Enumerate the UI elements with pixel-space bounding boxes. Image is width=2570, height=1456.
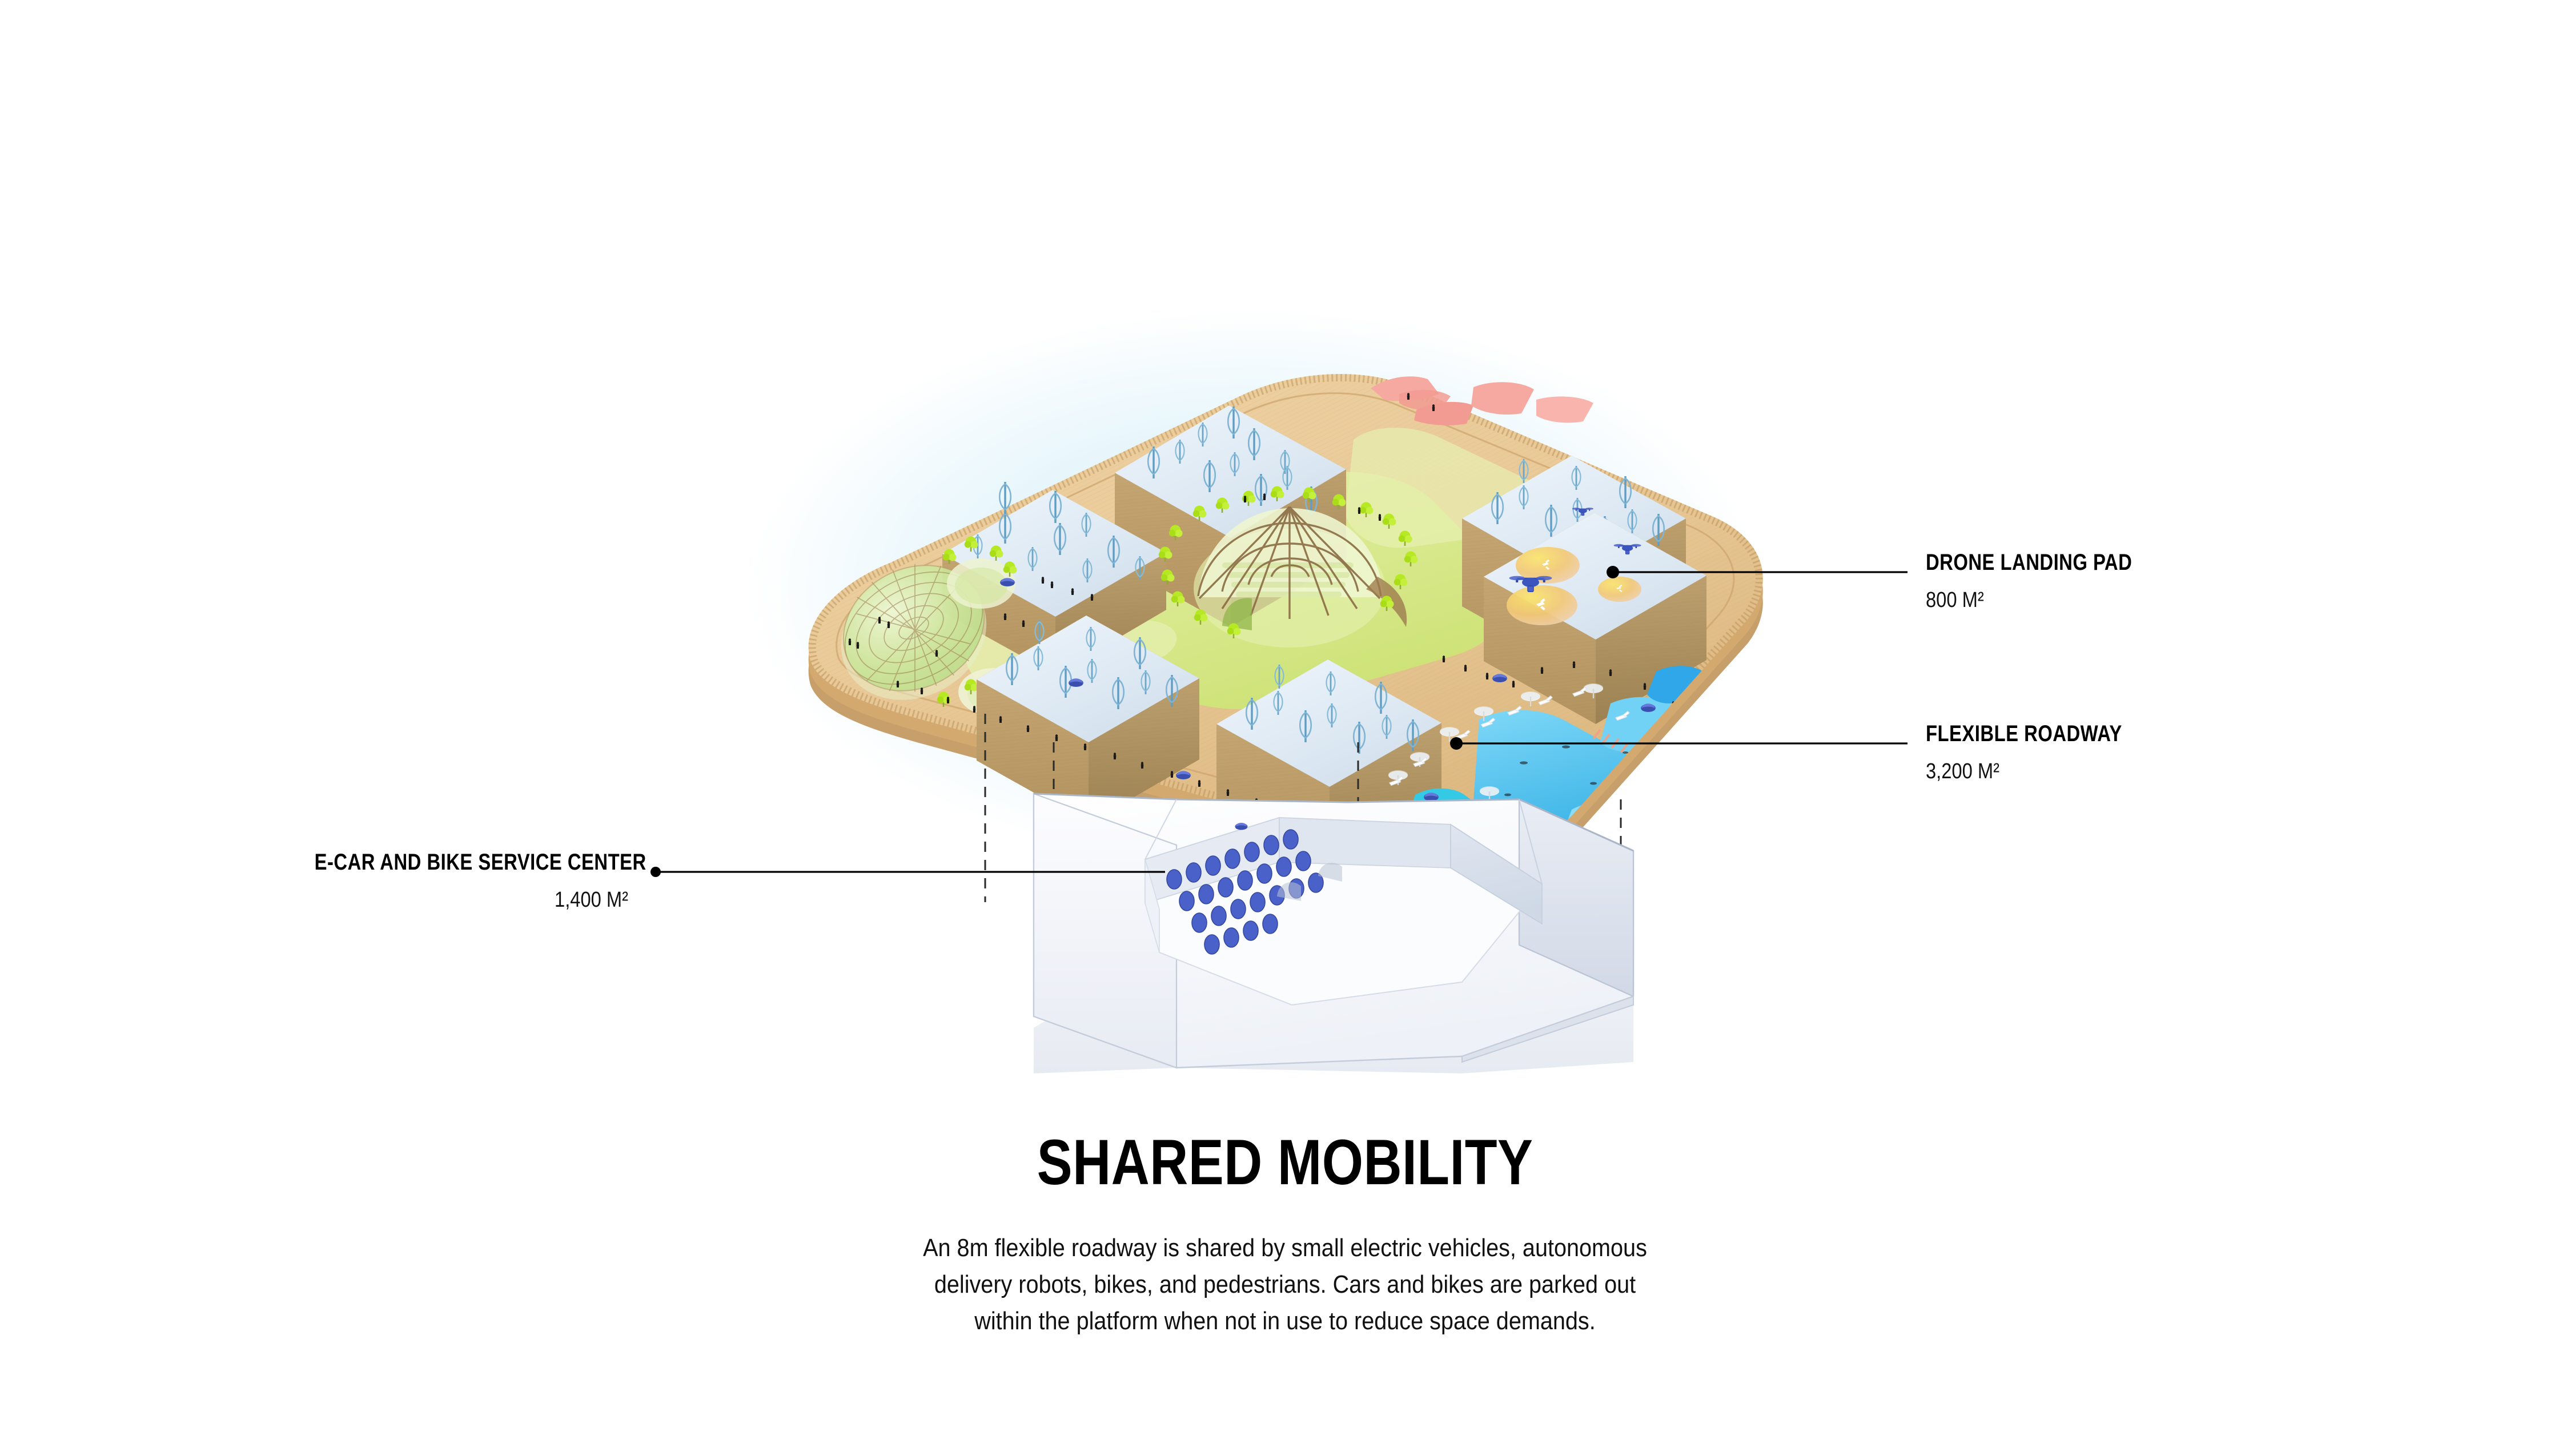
callout-area: 1,400 M²	[299, 889, 628, 911]
callout-label: FLEXIBLE ROADWAY	[1926, 722, 2122, 745]
callout-label: E-CAR AND BIKE SERVICE CENTER	[315, 851, 628, 874]
callout-e-car-and-bike-service-center: E-CAR AND BIKE SERVICE CENTER 1,400 M²	[246, 851, 628, 911]
callout-area: 3,200 M²	[1926, 761, 2132, 782]
callout-label: DRONE LANDING PAD	[1926, 551, 2132, 574]
title-block: SHARED MOBILITY An 8m flexible roadway i…	[714, 1131, 1856, 1340]
callout-flexible-roadway: FLEXIBLE ROADWAY 3,200 M²	[1926, 722, 2165, 782]
page-description: An 8m flexible roadway is shared by smal…	[918, 1230, 1653, 1340]
callout-area: 800 M²	[1926, 589, 2142, 611]
service-center-volume	[1034, 794, 1633, 1073]
callout-drone-landing-pad: DRONE LANDING PAD 800 M²	[1926, 551, 2178, 611]
page-title: SHARED MOBILITY	[811, 1131, 1759, 1194]
